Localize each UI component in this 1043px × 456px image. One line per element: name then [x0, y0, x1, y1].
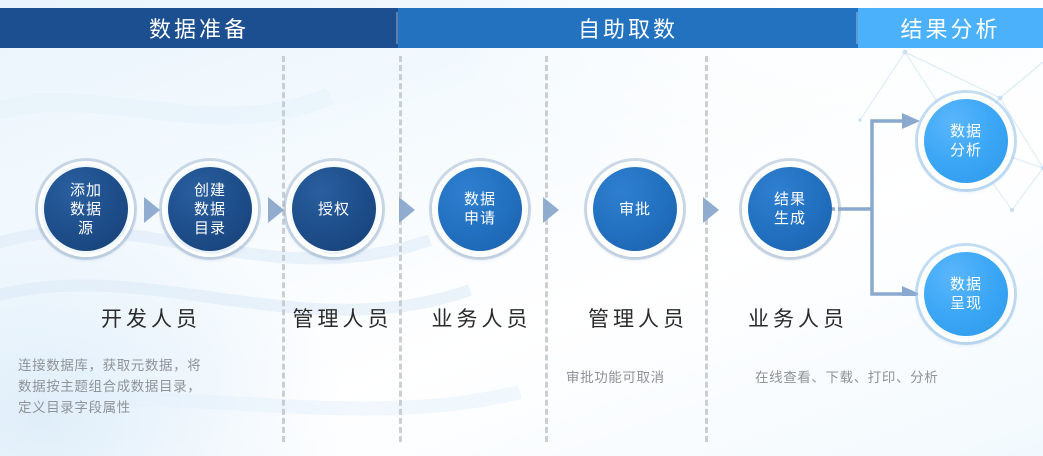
phase-band-group: 数据准备 自助取数 结果分析: [0, 8, 1043, 48]
node-data-presentation[interactable]: 数据 呈现: [918, 246, 1014, 342]
node-create-catalog[interactable]: 创建 数据 目录: [162, 161, 258, 257]
node-disc: 审批: [593, 167, 677, 251]
phase-band-label: 结果分析: [900, 12, 1000, 44]
node-label: 数据 申请: [464, 190, 496, 228]
role-label-business-user-2: 业务人员: [738, 303, 858, 333]
node-label: 审批: [619, 200, 651, 219]
node-approval[interactable]: 审批: [587, 161, 683, 257]
description-result: 在线查看、下载、打印、分析: [755, 367, 1015, 388]
arrow-1: [144, 197, 160, 223]
node-disc: 结果 生成: [748, 167, 832, 251]
phase-band-label: 数据准备: [149, 12, 249, 44]
arrow-3: [399, 197, 415, 223]
role-label-business-user-1: 业务人员: [424, 303, 539, 333]
node-label: 数据 分析: [950, 122, 982, 160]
node-label: 添加 数据 源: [70, 181, 102, 238]
node-add-data-source[interactable]: 添加 数据 源: [38, 161, 134, 257]
node-label: 授权: [318, 200, 350, 219]
arrow-2: [268, 197, 284, 223]
description-data-preparation: 连接数据库，获取元数据，将 数据按主题组合成数据目录， 定义目录字段属性: [18, 355, 274, 418]
node-label: 结果 生成: [774, 190, 806, 228]
node-label: 创建 数据 目录: [194, 181, 226, 238]
arrow-4: [543, 197, 559, 223]
flowchart-canvas: 数据准备 自助取数 结果分析 添加 数据 源 创: [0, 0, 1043, 456]
node-label: 数据 呈现: [950, 275, 982, 313]
node-disc: 数据 申请: [438, 167, 522, 251]
column-divider-3: [545, 56, 548, 442]
arrow-5: [703, 197, 719, 223]
node-data-request[interactable]: 数据 申请: [432, 161, 528, 257]
column-divider-1: [282, 56, 285, 442]
role-label-administrator-2: 管理人员: [578, 303, 698, 333]
node-data-analysis[interactable]: 数据 分析: [918, 93, 1014, 189]
node-disc: 数据 呈现: [924, 252, 1008, 336]
role-label-developer: 开发人员: [56, 303, 246, 333]
role-label-administrator-1: 管理人员: [290, 303, 395, 333]
phase-band-result-analysis[interactable]: 结果分析: [858, 8, 1043, 48]
node-disc: 创建 数据 目录: [168, 167, 252, 251]
node-authorize[interactable]: 授权: [286, 161, 382, 257]
phase-band-self-service-query[interactable]: 自助取数: [398, 8, 858, 48]
phase-band-data-preparation[interactable]: 数据准备: [0, 8, 398, 48]
node-disc: 添加 数据 源: [44, 167, 128, 251]
node-disc: 数据 分析: [924, 99, 1008, 183]
description-approval: 审批功能可取消: [566, 367, 706, 388]
node-disc: 授权: [292, 167, 376, 251]
phase-band-label: 自助取数: [578, 12, 678, 44]
node-result-generation[interactable]: 结果 生成: [742, 161, 838, 257]
column-divider-2: [399, 56, 402, 442]
